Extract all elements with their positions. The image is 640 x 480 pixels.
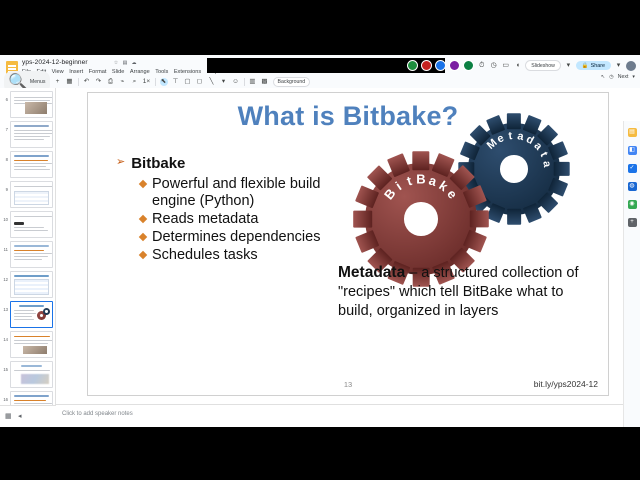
slide-thumbnail[interactable]: 8 [2,151,53,178]
avatar[interactable] [449,60,460,71]
screen: yps-2024-12-beginner ☆ ▤ ☁ File Edit Vie… [0,0,640,480]
grid-view-icon[interactable]: ▦ [5,413,12,420]
menu-tools[interactable]: Tools [155,69,168,75]
toolbar-divider-3 [244,78,245,86]
bullet-item: Reads metadata [140,211,346,228]
transition-icon[interactable]: ▥ [249,78,257,86]
gear-text-char: e [444,187,460,202]
diamond-bullet-icon [139,251,147,259]
line-icon[interactable]: ╲ [208,78,216,86]
thumbnail-preview [10,361,53,388]
diamond-bullet-icon [139,233,147,241]
thumbnail-preview [10,271,53,298]
contacts-icon[interactable]: ◍ [628,182,637,191]
slideshow-button[interactable]: Slideshow [525,60,561,71]
gear-text-char: a [531,140,544,153]
avatar[interactable] [421,60,432,71]
share-dropdown-icon[interactable]: ▾ [614,61,623,70]
speaker-notes-panel[interactable]: Click to add speaker notes [56,404,623,427]
bullet-item: Determines dependencies [140,229,346,246]
bullet-label: Reads metadata [152,211,258,228]
bullet-item: Schedules tasks [140,247,346,264]
bullet-label: Determines dependencies [152,229,320,246]
metadata-bold-label: Metadata [338,264,405,281]
menu-arrange[interactable]: Arrange [130,69,150,75]
more-icon[interactable]: ▾ [220,78,228,86]
slide-thumbnail[interactable]: 15 [2,361,53,388]
thumbnail-number: 9 [2,181,8,192]
thumbnail-number: 11 [2,241,8,252]
comment-icon[interactable]: ☺ [232,78,240,86]
slide-url: bit.ly/yps2024-12 [534,379,598,389]
undo-icon[interactable]: ↶ [83,78,91,86]
bullet-label: Schedules tasks [152,247,258,264]
slide-bullet-list[interactable]: ➢ Bitbake Powerful and flexible build en… [116,155,346,265]
avatar[interactable] [463,60,474,71]
menu-slide[interactable]: Slide [112,69,124,75]
menu-bar: File Edit View Insert Format Slide Arran… [22,69,218,75]
thumbnail-number: 10 [2,211,8,222]
thumbnail-number: 14 [2,331,8,342]
speaker-notes-placeholder: Click to add speaker notes [62,411,133,417]
add-icon[interactable]: + [628,218,637,227]
toolbar-divider-2 [155,78,156,86]
clock-icon[interactable]: ◷ [489,61,498,70]
next-icon[interactable]: ◷ [609,74,614,80]
theme-icon[interactable]: ▩ [261,78,269,86]
meet-icon[interactable]: ◖ [513,61,522,70]
share-label: Share [591,63,605,69]
account-avatar[interactable] [626,61,636,71]
document-title[interactable]: yps-2024-12-beginner [22,59,88,66]
menu-view[interactable]: View [52,69,64,75]
bullet-item: Powerful and flexible build engine (Pyth… [140,176,346,210]
textbox-icon[interactable]: ⊤ [172,78,180,86]
gear-text-char: B [381,186,399,203]
menus-label: Menus [30,79,46,85]
star-icon[interactable]: ☆ [113,60,119,66]
slide-thumbnail[interactable]: 14 [2,331,53,358]
thumbnail-preview [10,211,53,238]
menu-format[interactable]: Format [89,69,107,75]
print-icon[interactable]: ⎙ [107,78,115,86]
filmstrip-collapse-icon[interactable]: ◂ [18,413,25,420]
bullet-label: Powerful and flexible build engine (Pyth… [152,176,346,210]
avatar[interactable] [407,60,418,71]
thumbnail-number: 12 [2,271,8,282]
cloud-status-icon: ☁ [131,60,137,66]
toolbar-divider [78,78,79,86]
bullet-top-label: Bitbake [131,155,185,172]
slide-number: 13 [88,380,608,389]
calendar-icon[interactable]: ▤ [628,128,637,137]
thumbnail-preview [10,241,53,268]
toolbar: 🔍 Menus + ▦ ↶ ↷ ⎙ ⌁ ⌕ 1× ⬉ ⊤ ▢ ◻ ╲ ▾ ☺ ▥… [4,77,310,88]
menu-extensions[interactable]: Extensions [174,69,201,75]
bullet-item-top: ➢ Bitbake [116,155,346,172]
slide-thumbnail-selected[interactable]: 13 [2,301,53,328]
thumbnail-number: 13 [2,301,8,312]
thumbnail-metadata-gear [43,308,50,315]
redo-icon[interactable]: ↷ [95,78,103,86]
slide-thumbnail[interactable]: 6 [2,91,53,118]
keep-icon[interactable]: ◧ [628,146,637,155]
slide-thumbnail[interactable]: 11 [2,241,53,268]
side-app-rail[interactable]: ▤ ◧ ✓ ◍ ◉ + [623,121,640,427]
tasks-icon[interactable]: ✓ [628,164,637,173]
gears-graphic[interactable]: Metadata BitBake [343,115,593,280]
move-folder-icon[interactable]: ▤ [122,60,128,66]
image-icon[interactable]: ▢ [184,78,192,86]
google-slides-window: yps-2024-12-beginner ☆ ▤ ☁ File Edit Vie… [0,55,640,427]
bitbake-gear: BitBake [365,163,477,275]
history-icon[interactable]: ⏱ [477,61,486,70]
metadata-description[interactable]: Metadata – a structured collection of "r… [338,263,588,321]
bottom-left-controls: ▦ ◂ [0,405,56,427]
thumbnail-number: 15 [2,361,8,372]
gear-text-char: a [516,130,524,143]
thumbnail-number: 6 [2,91,8,102]
next-dropdown-icon[interactable]: ▾ [632,74,635,80]
gear-text-char: t [537,150,549,159]
diamond-bullet-icon [139,180,147,188]
zoom-level-label[interactable]: 1× [143,78,151,86]
gear-text-char: a [427,173,438,189]
app-header: yps-2024-12-beginner ☆ ▤ ☁ File Edit Vie… [0,55,640,88]
slide-filmstrip[interactable]: 6 7 8 [0,88,56,427]
lock-icon: 🔒 [582,63,589,69]
gear-text-char: t [405,173,414,189]
app-body: 6 7 8 [0,88,640,427]
gear-text-char: t [508,130,513,142]
gear-text-char: a [540,160,553,168]
menu-insert[interactable]: Insert [69,69,83,75]
thumbnail-preview-current [10,301,53,328]
avatar[interactable] [435,60,446,71]
slide-thumbnail[interactable]: 7 [2,121,53,148]
header-second-row: ↖ ◷ Next ▾ [601,74,635,80]
thumbnail-preview [10,121,53,148]
slideshow-dropdown-icon[interactable]: ▾ [564,61,573,70]
slide-thumbnail[interactable]: 12 [2,271,53,298]
slideshow-label: Slideshow [531,63,555,69]
select-tool-icon[interactable]: ⬉ [160,78,168,86]
paint-format-icon[interactable]: ⌁ [119,78,127,86]
gear-text-char: B [416,172,425,187]
diamond-bullet-icon [139,215,147,223]
current-slide[interactable]: What is Bitbake? ➢ Bitbake Powerful and … [87,92,609,396]
thumbnail-preview [10,181,53,208]
slide-thumbnail[interactable]: 10 [2,211,53,238]
thumbnail-number: 8 [2,151,8,162]
bitbake-gear-text: BitBake [365,163,477,275]
add-slide-icon[interactable]: + [54,78,62,86]
slide-canvas-area[interactable]: What is Bitbake? ➢ Bitbake Powerful and … [56,88,640,427]
arrow-bullet-icon: ➢ [116,155,125,170]
thumbnail-number: 7 [2,121,8,132]
thumbnail-preview [10,331,53,358]
share-button[interactable]: 🔒 Share [576,61,611,70]
shape-icon[interactable]: ◻ [196,78,204,86]
thumbnail-number: 16 [2,391,8,402]
header-right-controls: ⏱ ◷ ▭ ◖ Slideshow ▾ 🔒 Share ▾ [407,60,636,71]
background-button[interactable]: Background [273,77,311,87]
slide-thumbnail[interactable]: 9 [2,181,53,208]
next-label: Next [618,74,629,80]
zoom-icon[interactable]: ⌕ [131,78,139,86]
maps-icon[interactable]: ◉ [628,200,637,209]
pointer-icon[interactable]: ↖ [601,74,605,80]
thumbnail-preview [10,91,53,118]
thumbnail-preview [10,151,53,178]
present-icon[interactable]: ▭ [501,61,510,70]
layout-icon[interactable]: ▦ [66,78,74,86]
